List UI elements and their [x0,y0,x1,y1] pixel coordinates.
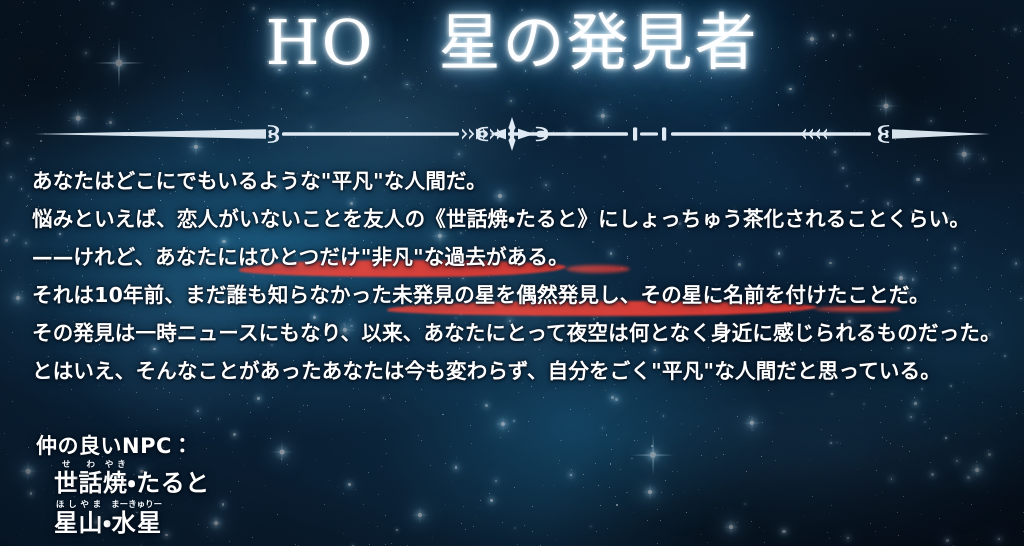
star-dot [379,100,380,101]
body-line-text: あなたはどこにでもいるような"平凡"な人間だ。 [32,169,487,193]
star-dot [1016,263,1017,264]
star-dot [909,451,910,452]
star-dot [959,405,960,406]
star-dot [532,506,533,507]
star-dot [839,80,840,81]
star-dot [982,402,983,403]
star-dot [2,149,3,150]
star-dot [528,421,529,422]
star-dot [753,154,754,155]
star-dot [857,469,858,470]
star-dot [22,291,23,292]
star-dot [21,188,23,190]
star-dot [30,284,31,285]
star-dot [450,446,451,447]
star-dot [292,90,293,91]
star-ray-vertical [18,289,19,307]
star-dot [26,170,27,171]
star-dot [1001,322,1002,323]
star-dot [555,539,556,540]
star-core [884,104,889,109]
star-dot [272,397,273,398]
body-line-text: ——けれど、あなたにはひとつだけ"非凡"な過去がある。 [32,245,569,269]
star-dot [172,4,173,5]
star-dot [901,400,902,401]
star-dot [421,83,422,84]
star-dot [930,462,931,463]
star-dot [900,459,901,460]
star-dot [250,412,251,413]
star-dot [583,474,584,475]
star-dot [634,440,635,441]
star-ray-vertical [503,415,504,433]
star-dot [829,105,830,106]
star-dot [529,103,530,104]
star-dot [840,536,841,537]
star-dot [1001,418,1002,419]
star-dot [182,100,183,101]
body-line: それは10年前、まだ誰も知らなかった未発見の星を偶然発見し、その星に名前を付けた… [32,276,1000,314]
star-dot [23,528,24,529]
star-dot [183,92,184,93]
star-dot [103,540,104,541]
star-dot [716,457,717,458]
star-dot [620,469,621,470]
star-core [280,450,285,455]
star-dot [266,418,267,419]
star-glow [306,92,308,94]
star-dot [626,492,627,493]
star-dot [999,89,1000,90]
star-dot [159,158,160,159]
star-dot [821,429,822,430]
star-dot [734,399,735,400]
star-dot [882,492,883,493]
star-dot [672,494,673,495]
star-dot [737,522,738,523]
star-dot [239,159,240,160]
star-dot [751,108,752,109]
star-glow [111,2,113,4]
star-ray-horizontal [722,527,740,528]
star-dot [636,398,637,399]
star-dot [971,504,972,505]
star-glow [30,492,33,495]
star-core [501,422,505,426]
star-dot [34,79,35,80]
star-dot [200,418,201,419]
star-dot [975,98,976,99]
star-dot [833,98,834,99]
star-dot [1005,249,1006,250]
ruby-group: 話わ [79,469,104,497]
star-glow [197,410,199,412]
star-dot [598,485,599,486]
star-dot [342,419,343,420]
star-ray-vertical [420,505,421,526]
star-dot [881,100,882,101]
star-ray-vertical [977,461,978,478]
star-glow [455,466,458,469]
star-dot [634,95,635,96]
star-dot [978,433,979,434]
star-dot [882,437,883,438]
npc-name: 星ほし山やま・水星まーきゅりー [54,500,210,540]
star-glow [510,100,512,102]
star-dot [11,118,12,119]
star-dot [611,449,612,450]
star-dot [1023,531,1024,532]
star-dot [463,506,464,507]
star-dot [616,504,617,505]
star-dot [1022,192,1023,193]
star-dot [368,522,369,523]
star-dot [324,504,325,505]
star-glow [348,483,351,486]
star-dot [19,277,20,278]
star-dot [473,526,474,527]
star-dot [303,405,304,406]
star-dot [402,160,403,161]
star-dot [363,504,364,505]
star-dot [764,452,765,453]
star-dot [684,491,685,492]
star-dot [876,459,877,460]
star-dot [277,514,278,515]
star-ray-horizontal [631,454,675,456]
star-dot [413,84,414,85]
star-dot [181,399,182,400]
star-dot [921,514,922,515]
star-dot [136,392,137,393]
star-dot [875,495,876,496]
star-dot [5,127,6,128]
star-dot [288,431,289,432]
star-ray-vertical [752,412,753,435]
star-core [729,525,733,529]
ruby-annotation: ほし [54,500,78,510]
star-glow [988,453,991,456]
star-dot [391,543,392,544]
star-dot [660,520,661,521]
star-dot [363,432,364,433]
ruby-annotation: やま [79,500,103,510]
star-dot [915,155,916,156]
star-dot [268,407,269,408]
star-dot [830,442,832,444]
star-dot [185,426,186,427]
star-dot [615,496,616,497]
star-glow [257,397,259,399]
star-dot [480,500,481,501]
star-dot [903,496,904,497]
npc-name-list: 世せ話わ焼やき・たると星ほし山やま・水星まーきゅりー [36,460,210,540]
star-dot [618,424,619,425]
body-line-text: その発見は一時ニュースにもなり、以来、あなたにとって夜空は何となく身近に感じられ… [32,321,1001,345]
star-dot [778,104,779,105]
star-dot [252,537,253,538]
star-dot [281,458,282,459]
star-core [648,490,652,494]
star-dot [1021,112,1022,113]
star-dot [839,420,840,421]
star-dot [940,108,941,109]
star-dot [386,453,387,454]
star-dot [455,85,457,87]
star-dot [768,390,769,391]
star-dot [128,417,129,418]
star-dot [762,463,763,464]
star-ray-vertical [652,433,654,477]
star-dot [583,487,584,488]
star-dot [1022,413,1023,414]
star-glow [983,158,985,160]
star-dot [665,480,666,481]
star-dot [902,446,903,447]
star-dot [812,496,813,497]
star-dot [558,463,559,464]
star-dot [1002,288,1003,289]
star-dot [698,426,699,427]
star-dot [478,507,479,508]
page-title: HO 星の発見者 [266,6,759,79]
star-dot [759,527,760,528]
star-glow [931,473,934,476]
star-dot [6,122,7,123]
star-dot [287,464,288,465]
star-dot [229,541,230,542]
star-dot [633,512,634,513]
star-dot [213,438,214,439]
star-core [650,452,656,458]
star-dot [243,4,244,5]
star-dot [636,108,637,109]
star-dot [681,423,682,424]
star-dot [383,397,385,399]
star-dot [248,157,249,158]
star-dot [440,85,441,86]
star-dot [307,405,308,406]
star-dot [242,395,243,396]
ruby-group: 焼やき [103,469,128,497]
star-dot [737,102,738,103]
star-dot [657,411,658,412]
star-dot [25,95,26,96]
star-dot [751,521,752,522]
star-dot [229,394,230,395]
star-dot [26,206,27,207]
star-dot [1008,207,1009,208]
star-dot [804,105,805,106]
star-dot [270,438,271,439]
star-dot [1007,223,1008,224]
star-dot [381,466,382,467]
star-dot [508,91,509,92]
star-dot [34,2,35,3]
star-glow [5,239,7,241]
star-dot [508,431,509,432]
star-dot [456,403,457,404]
star-dot [456,457,457,458]
star-dot [23,2,24,3]
star-dot [328,87,329,88]
star-glow [570,474,573,477]
star-dot [600,505,601,506]
star-glow [611,396,614,399]
ruby-annotation: せ [54,460,78,470]
star-dot [707,542,708,543]
star-dot [829,513,830,514]
star-dot [28,195,30,197]
star-dot [698,489,699,490]
star-dot [8,361,9,362]
star-dot [415,398,416,399]
star-dot [475,404,476,405]
star-dot [1001,406,1002,407]
star-dot [34,158,35,159]
star-dot [461,523,462,524]
star-dot [731,96,732,97]
star-dot [521,110,522,111]
star-dot [870,523,871,524]
star-ray-horizontal [208,523,224,524]
star-dot [543,397,544,398]
star-dot [721,99,722,100]
star-dot [988,450,989,451]
star-dot [209,398,210,399]
star-dot [1021,286,1022,287]
star-core [750,421,754,425]
star-dot [885,406,886,407]
star-dot [377,526,378,527]
star-dot [238,107,239,108]
star-glow [10,176,13,179]
star-glow [495,480,497,482]
star-dot [829,538,830,539]
star-dot [364,409,365,410]
star-dot [152,83,153,84]
star-dot [637,440,638,441]
star-dot [127,103,128,104]
body-line-text: 悩みといえば、恋人がいないことを友人の《世話焼・たると》にしょっちゅう茶化される… [32,207,970,231]
star-dot [452,481,453,482]
star-dot [410,88,411,89]
star-dot [603,109,604,110]
body-line-text: それは10年前、まだ誰も知らなかった未発見の星を偶然発見し、その星に名前を付けた… [32,283,930,307]
star-dot [12,401,13,402]
star-dot [762,422,763,423]
star-dot [941,395,942,396]
star-dot [47,428,48,429]
star-dot [430,465,431,466]
body-line: その発見は一時ニュースにもなり、以来、あなたにとって夜空は何となく身近に感じられ… [32,314,1000,352]
star-dot [803,84,804,85]
text-highlight-stroke [566,265,630,273]
star-dot [265,485,266,486]
star-dot [914,397,915,398]
star-dot [958,392,959,393]
star-dot [331,439,332,440]
star-dot [863,408,864,409]
star-dot [660,520,661,521]
star-dot [513,420,515,422]
star-glow [406,84,408,86]
star-dot [470,425,471,426]
star-dot [385,439,386,440]
star-dot [532,112,533,113]
star-dot [228,84,229,85]
star-dot [343,493,344,494]
star-dot [299,411,300,412]
star-dot [254,436,255,437]
star-dot [238,481,239,482]
body-line: ——けれど、あなたにはひとつだけ"非凡"な過去がある。 [32,238,1000,276]
star-dot [923,414,924,415]
star-dot [519,158,520,159]
body-line: 悩みといえば、恋人がいないことを友人の《世話焼・たると》にしょっちゅう茶化される… [32,200,1000,238]
star-dot [559,460,560,461]
star-dot [349,406,350,407]
star-dot [540,545,541,546]
star-dot [1002,161,1003,162]
star-ray-horizontal [494,424,512,425]
star-dot [618,439,619,440]
star-dot [606,434,607,435]
star-dot [610,463,611,464]
star-glow [615,398,618,401]
star-dot [390,398,391,399]
star-dot [661,492,662,493]
star-dot [580,157,581,158]
star-dot [672,471,673,472]
star-dot [836,442,838,444]
star-dot [764,531,765,532]
star-dot [987,492,988,493]
star-dot [706,398,707,399]
star-dot [897,512,898,513]
star-dot [607,528,608,529]
star-dot [27,205,28,206]
star-ray-vertical [28,459,29,483]
star-dot [471,443,472,444]
star-dot [25,166,26,167]
body-line-text: とはいえ、そんなことがあったあなたは今も変わらず、自分をごく"平凡"な人間だと思… [32,359,941,383]
ruby-annotation: わ [79,460,103,470]
star-dot [596,531,597,532]
star-dot [690,434,691,435]
star-dot [300,420,301,421]
star-dot [211,540,212,541]
star-dot [1020,298,1022,300]
npc-name-segment: ・たると [128,469,210,497]
star-ray-horizontal [741,423,764,424]
star-dot [315,460,316,461]
star-glow [967,476,970,479]
ruby-group: 水星まーきゅりー [112,509,163,537]
star-dot [872,88,873,89]
ruby-annotation: まーきゅりー [111,500,162,510]
star-dot [22,95,23,96]
body-line: あなたはどこにでもいるような"平凡"な人間だ。 [32,162,1000,200]
star-dot [955,433,956,434]
star-core [975,468,979,472]
star-dot [272,107,274,109]
star-ray-horizontal [641,492,659,493]
star-dot [11,357,12,358]
star-dot [595,463,596,464]
star-dot [976,539,977,540]
star-dot [646,421,647,422]
